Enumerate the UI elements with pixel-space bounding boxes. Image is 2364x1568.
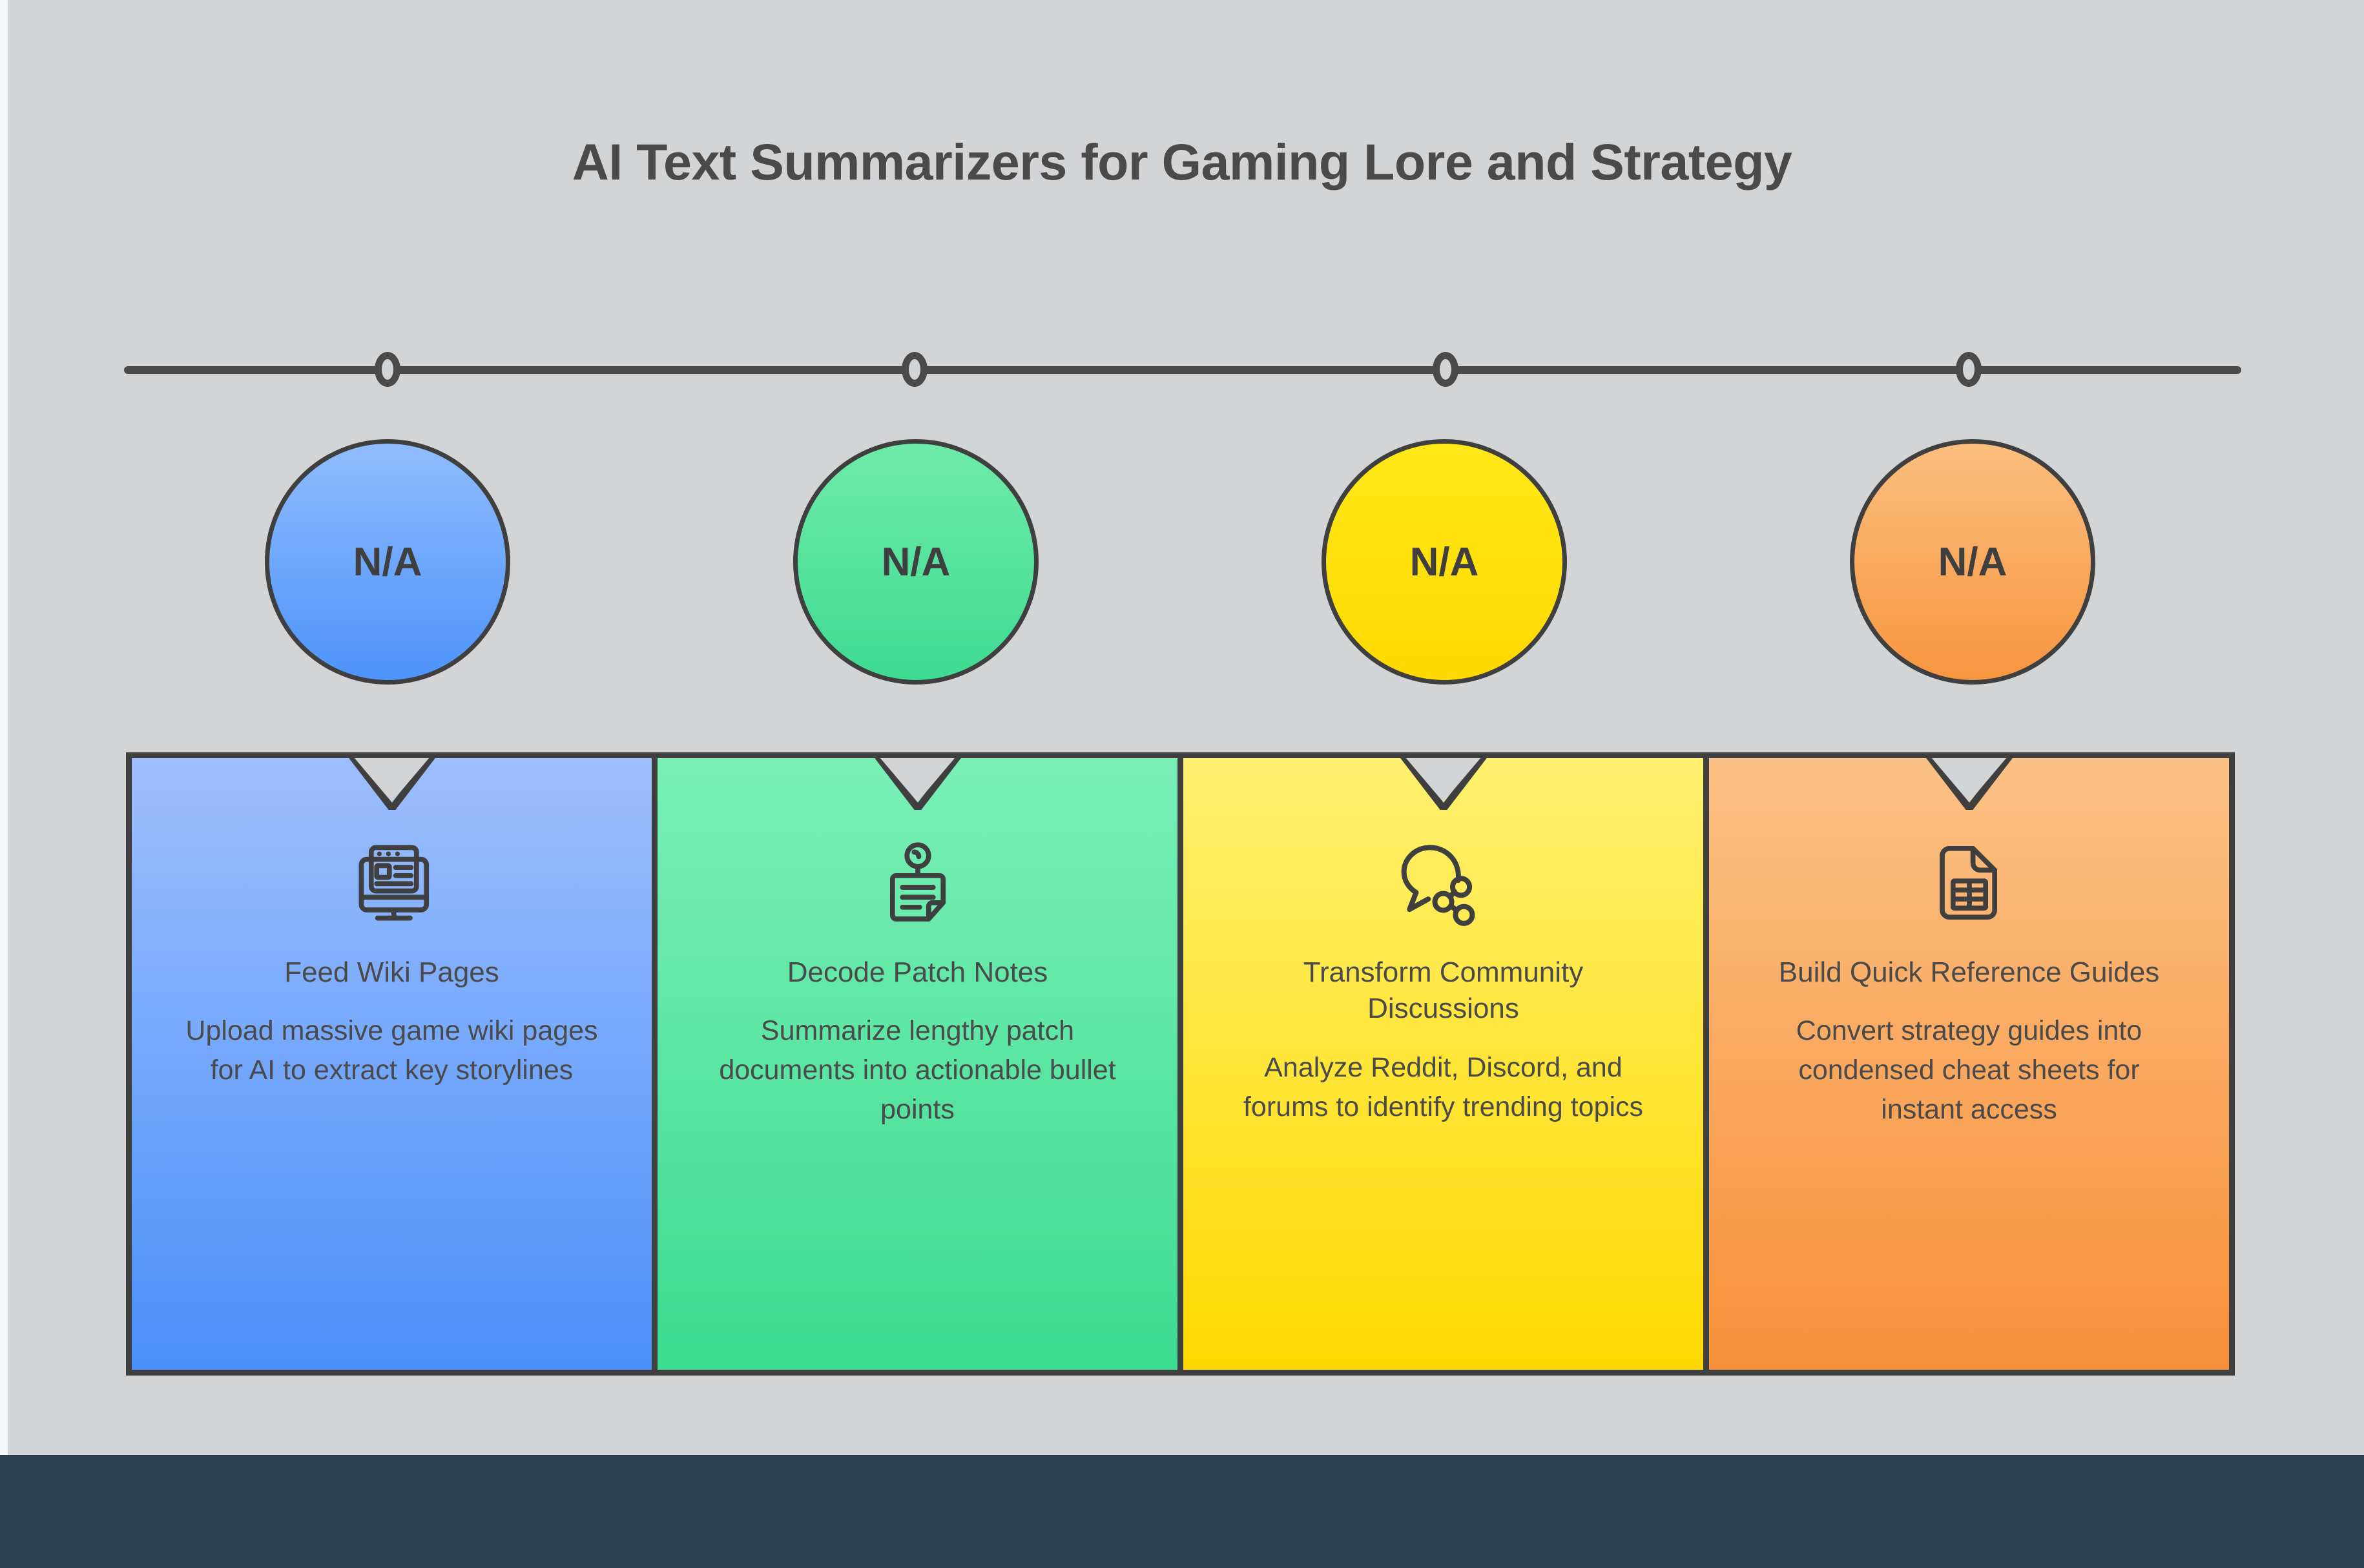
card-transform-community-discussions[interactable]: Transform Community Discussions Analyze … (1177, 758, 1703, 1370)
infographic-root: AI Text Summarizers for Gaming Lore and … (0, 0, 2364, 1568)
pinned-note-document-icon (869, 834, 966, 931)
timeline-line (124, 366, 2241, 374)
stage-circle-4[interactable]: N/A (1850, 439, 2095, 685)
stage-circles-row: N/A N/A N/A N/A (0, 439, 2364, 685)
card-1-description: Upload massive game wiki pages for AI to… (185, 1011, 599, 1090)
card-2-description: Summarize lengthy patch documents into a… (711, 1011, 1125, 1130)
card-band: Feed Wiki Pages Upload massive game wiki… (126, 752, 2235, 1376)
card-feed-wiki-pages[interactable]: Feed Wiki Pages Upload massive game wiki… (132, 758, 652, 1370)
card-build-quick-reference-guides[interactable]: Build Quick Reference Guides Convert str… (1703, 758, 2229, 1370)
card-3-description: Analyze Reddit, Discord, and forums to i… (1243, 1048, 1644, 1127)
timeline-marker-3[interactable] (1433, 352, 1458, 387)
card-4-title: Build Quick Reference Guides (1779, 954, 2159, 991)
timeline-marker-2[interactable] (902, 352, 928, 387)
monitor-wiki-page-icon (344, 834, 441, 931)
stage-circle-1-label: N/A (353, 539, 422, 585)
card-decode-patch-notes[interactable]: Decode Patch Notes Summarize lengthy pat… (652, 758, 1177, 1370)
document-table-icon (1921, 834, 2018, 931)
page-title: AI Text Summarizers for Gaming Lore and … (0, 132, 2364, 192)
timeline-marker-1[interactable] (375, 352, 400, 387)
stage-circle-2[interactable]: N/A (793, 439, 1039, 685)
stage-circle-2-label: N/A (882, 539, 951, 585)
card-4-description: Convert strategy guides into condensed c… (1769, 1011, 2170, 1130)
footer-band (0, 1455, 2364, 1568)
timeline-marker-4[interactable] (1956, 352, 1982, 387)
stage-circle-4-label: N/A (1938, 539, 2007, 585)
stage-circle-3-label: N/A (1410, 539, 1479, 585)
timeline (124, 349, 2241, 395)
card-2-title: Decode Patch Notes (787, 954, 1048, 991)
card-3-title: Transform Community Discussions (1230, 954, 1657, 1027)
stage-circle-3[interactable]: N/A (1322, 439, 1567, 685)
speech-bubble-share-icon (1395, 834, 1492, 931)
stage-circle-1[interactable]: N/A (265, 439, 510, 685)
card-1-title: Feed Wiki Pages (284, 954, 499, 991)
